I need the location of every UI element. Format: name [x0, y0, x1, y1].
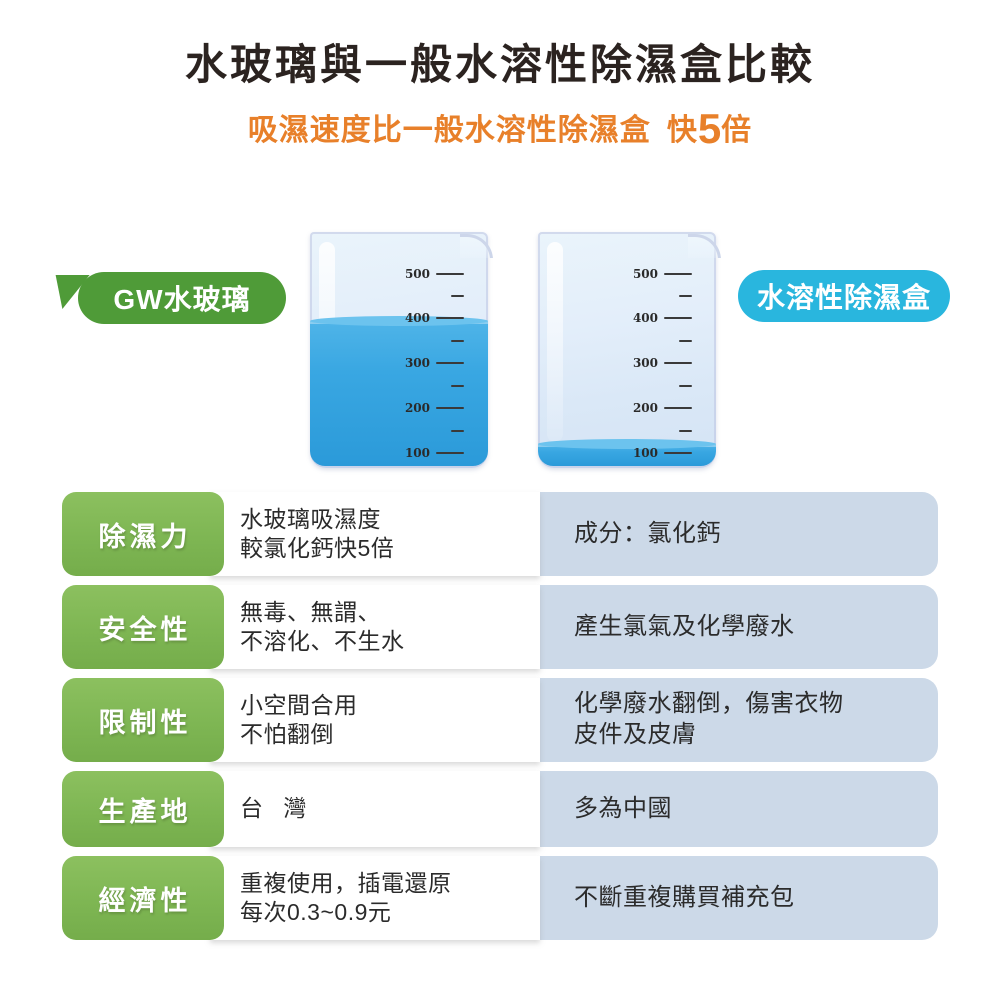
- cell-text-line: 水玻璃吸濕度: [240, 505, 540, 534]
- scale-tick-350: [388, 335, 484, 347]
- row-category-badge: 生產地: [62, 771, 224, 847]
- table-row: 限制性 小空間合用 不怕翻倒 化學廢水翻倒，傷害衣物 皮件及皮膚: [62, 678, 938, 762]
- row-cell-soluble: 多為中國: [540, 771, 938, 847]
- cell-text-line: 無毒、無謂、: [240, 598, 540, 627]
- infographic-page: 水玻璃與一般水溶性除濕盒比較 吸濕速度比一般水溶性除濕盒快5倍 500: [0, 0, 1000, 1000]
- scale-tick-150: [388, 425, 484, 437]
- row-cell-soluble: 化學廢水翻倒，傷害衣物 皮件及皮膚: [540, 678, 938, 762]
- cell-text-line: 不溶化、不生水: [240, 627, 540, 656]
- cell-text-line: 不怕翻倒: [240, 720, 540, 749]
- cell-text-line: 較氯化鈣快5倍: [240, 534, 540, 563]
- scale-tick-400: 400: [388, 312, 484, 324]
- row-cell-gw: 台 灣: [210, 771, 540, 847]
- row-cell-gw: 小空間合用 不怕翻倒: [210, 678, 540, 762]
- table-row: 安全性 無毒、無謂、 不溶化、不生水 產生氯氣及化學廢水: [62, 585, 938, 669]
- cell-text-line: 皮件及皮膚: [574, 720, 924, 751]
- row-category-badge: 經濟性: [62, 856, 224, 940]
- scale-tick-250: [616, 380, 712, 392]
- subtitle-times-label: 倍: [721, 114, 752, 147]
- scale-tick-500: 500: [388, 268, 484, 280]
- cell-text-line: 小空間合用: [240, 691, 540, 720]
- row-cell-gw: 水玻璃吸濕度 較氯化鈣快5倍: [210, 492, 540, 576]
- beaker-left-gw: 500 400 300 200: [310, 232, 488, 468]
- cell-text-line: 每次0.3~0.9元: [240, 898, 540, 927]
- scale-tick-100: 100: [388, 447, 484, 459]
- subtitle-fast-label: 快: [667, 114, 698, 147]
- page-subtitle: 吸濕速度比一般水溶性除濕盒快5倍: [0, 104, 1000, 154]
- subtitle-text-pre: 吸濕速度比一般水溶性除濕盒: [248, 114, 651, 147]
- scale-tick-200: 200: [388, 402, 484, 414]
- table-row: 除濕力 水玻璃吸濕度 較氯化鈣快5倍 成分：氯化鈣: [62, 492, 938, 576]
- subtitle-multiplier: 5: [698, 105, 721, 152]
- beaker-pour-spout: [460, 232, 502, 258]
- scale-tick-300: 300: [616, 357, 712, 369]
- beaker-comparison-zone: 500 400 300 200: [0, 225, 1000, 480]
- scale-tick-400: 400: [616, 312, 712, 324]
- scale-tick-500: 500: [616, 268, 712, 280]
- row-cell-gw: 無毒、無謂、 不溶化、不生水: [210, 585, 540, 669]
- scale-tick-250: [388, 380, 484, 392]
- cell-text-line: 化學廢水翻倒，傷害衣物: [574, 689, 924, 720]
- cell-text-line: 產生氯氣及化學廢水: [574, 612, 924, 643]
- label-bubble-gw-text: GW水玻璃: [113, 278, 250, 318]
- scale-tick-450: [616, 290, 712, 302]
- page-title: 水玻璃與一般水溶性除濕盒比較: [0, 40, 1000, 90]
- row-cell-gw: 重複使用，插電還原 每次0.3~0.9元: [210, 856, 540, 940]
- table-row: 經濟性 重複使用，插電還原 每次0.3~0.9元 不斷重複購買補充包: [62, 856, 938, 940]
- cell-text-line: 不斷重複購買補充包: [574, 883, 924, 914]
- beaker-pour-spout: [688, 232, 730, 258]
- beaker-scale-gw: 500 400 300 200: [388, 268, 484, 460]
- scale-tick-300: 300: [388, 357, 484, 369]
- row-category-badge: 安全性: [62, 585, 224, 669]
- row-cell-soluble: 不斷重複購買補充包: [540, 856, 938, 940]
- cell-text-line: 多為中國: [574, 794, 924, 825]
- cell-text-line: 重複使用，插電還原: [240, 869, 540, 898]
- scale-tick-200: 200: [616, 402, 712, 414]
- row-category-badge: 限制性: [62, 678, 224, 762]
- label-bubble-gw: GW水玻璃: [78, 272, 286, 324]
- row-cell-soluble: 產生氯氣及化學廢水: [540, 585, 938, 669]
- header: 水玻璃與一般水溶性除濕盒比較 吸濕速度比一般水溶性除濕盒快5倍: [0, 40, 1000, 155]
- row-category-badge: 除濕力: [62, 492, 224, 576]
- beaker-scale-soluble: 500 400 300 200: [616, 268, 712, 460]
- table-row: 生產地 台 灣 多為中國: [62, 771, 938, 847]
- comparison-table: 除濕力 水玻璃吸濕度 較氯化鈣快5倍 成分：氯化鈣 安全性 無毒、無謂、 不溶化…: [62, 492, 938, 949]
- row-cell-soluble: 成分：氯化鈣: [540, 492, 938, 576]
- cell-text-line: 台 灣: [240, 794, 540, 823]
- scale-tick-450: [388, 290, 484, 302]
- beaker-right-soluble: 500 400 300 200: [538, 232, 716, 468]
- label-bubble-soluble: 水溶性除濕盒: [738, 270, 950, 322]
- label-bubble-soluble-text: 水溶性除濕盒: [757, 276, 931, 316]
- cell-text-line: 成分：氯化鈣: [574, 519, 924, 550]
- scale-tick-100: 100: [616, 447, 712, 459]
- scale-tick-350: [616, 335, 712, 347]
- scale-tick-150: [616, 425, 712, 437]
